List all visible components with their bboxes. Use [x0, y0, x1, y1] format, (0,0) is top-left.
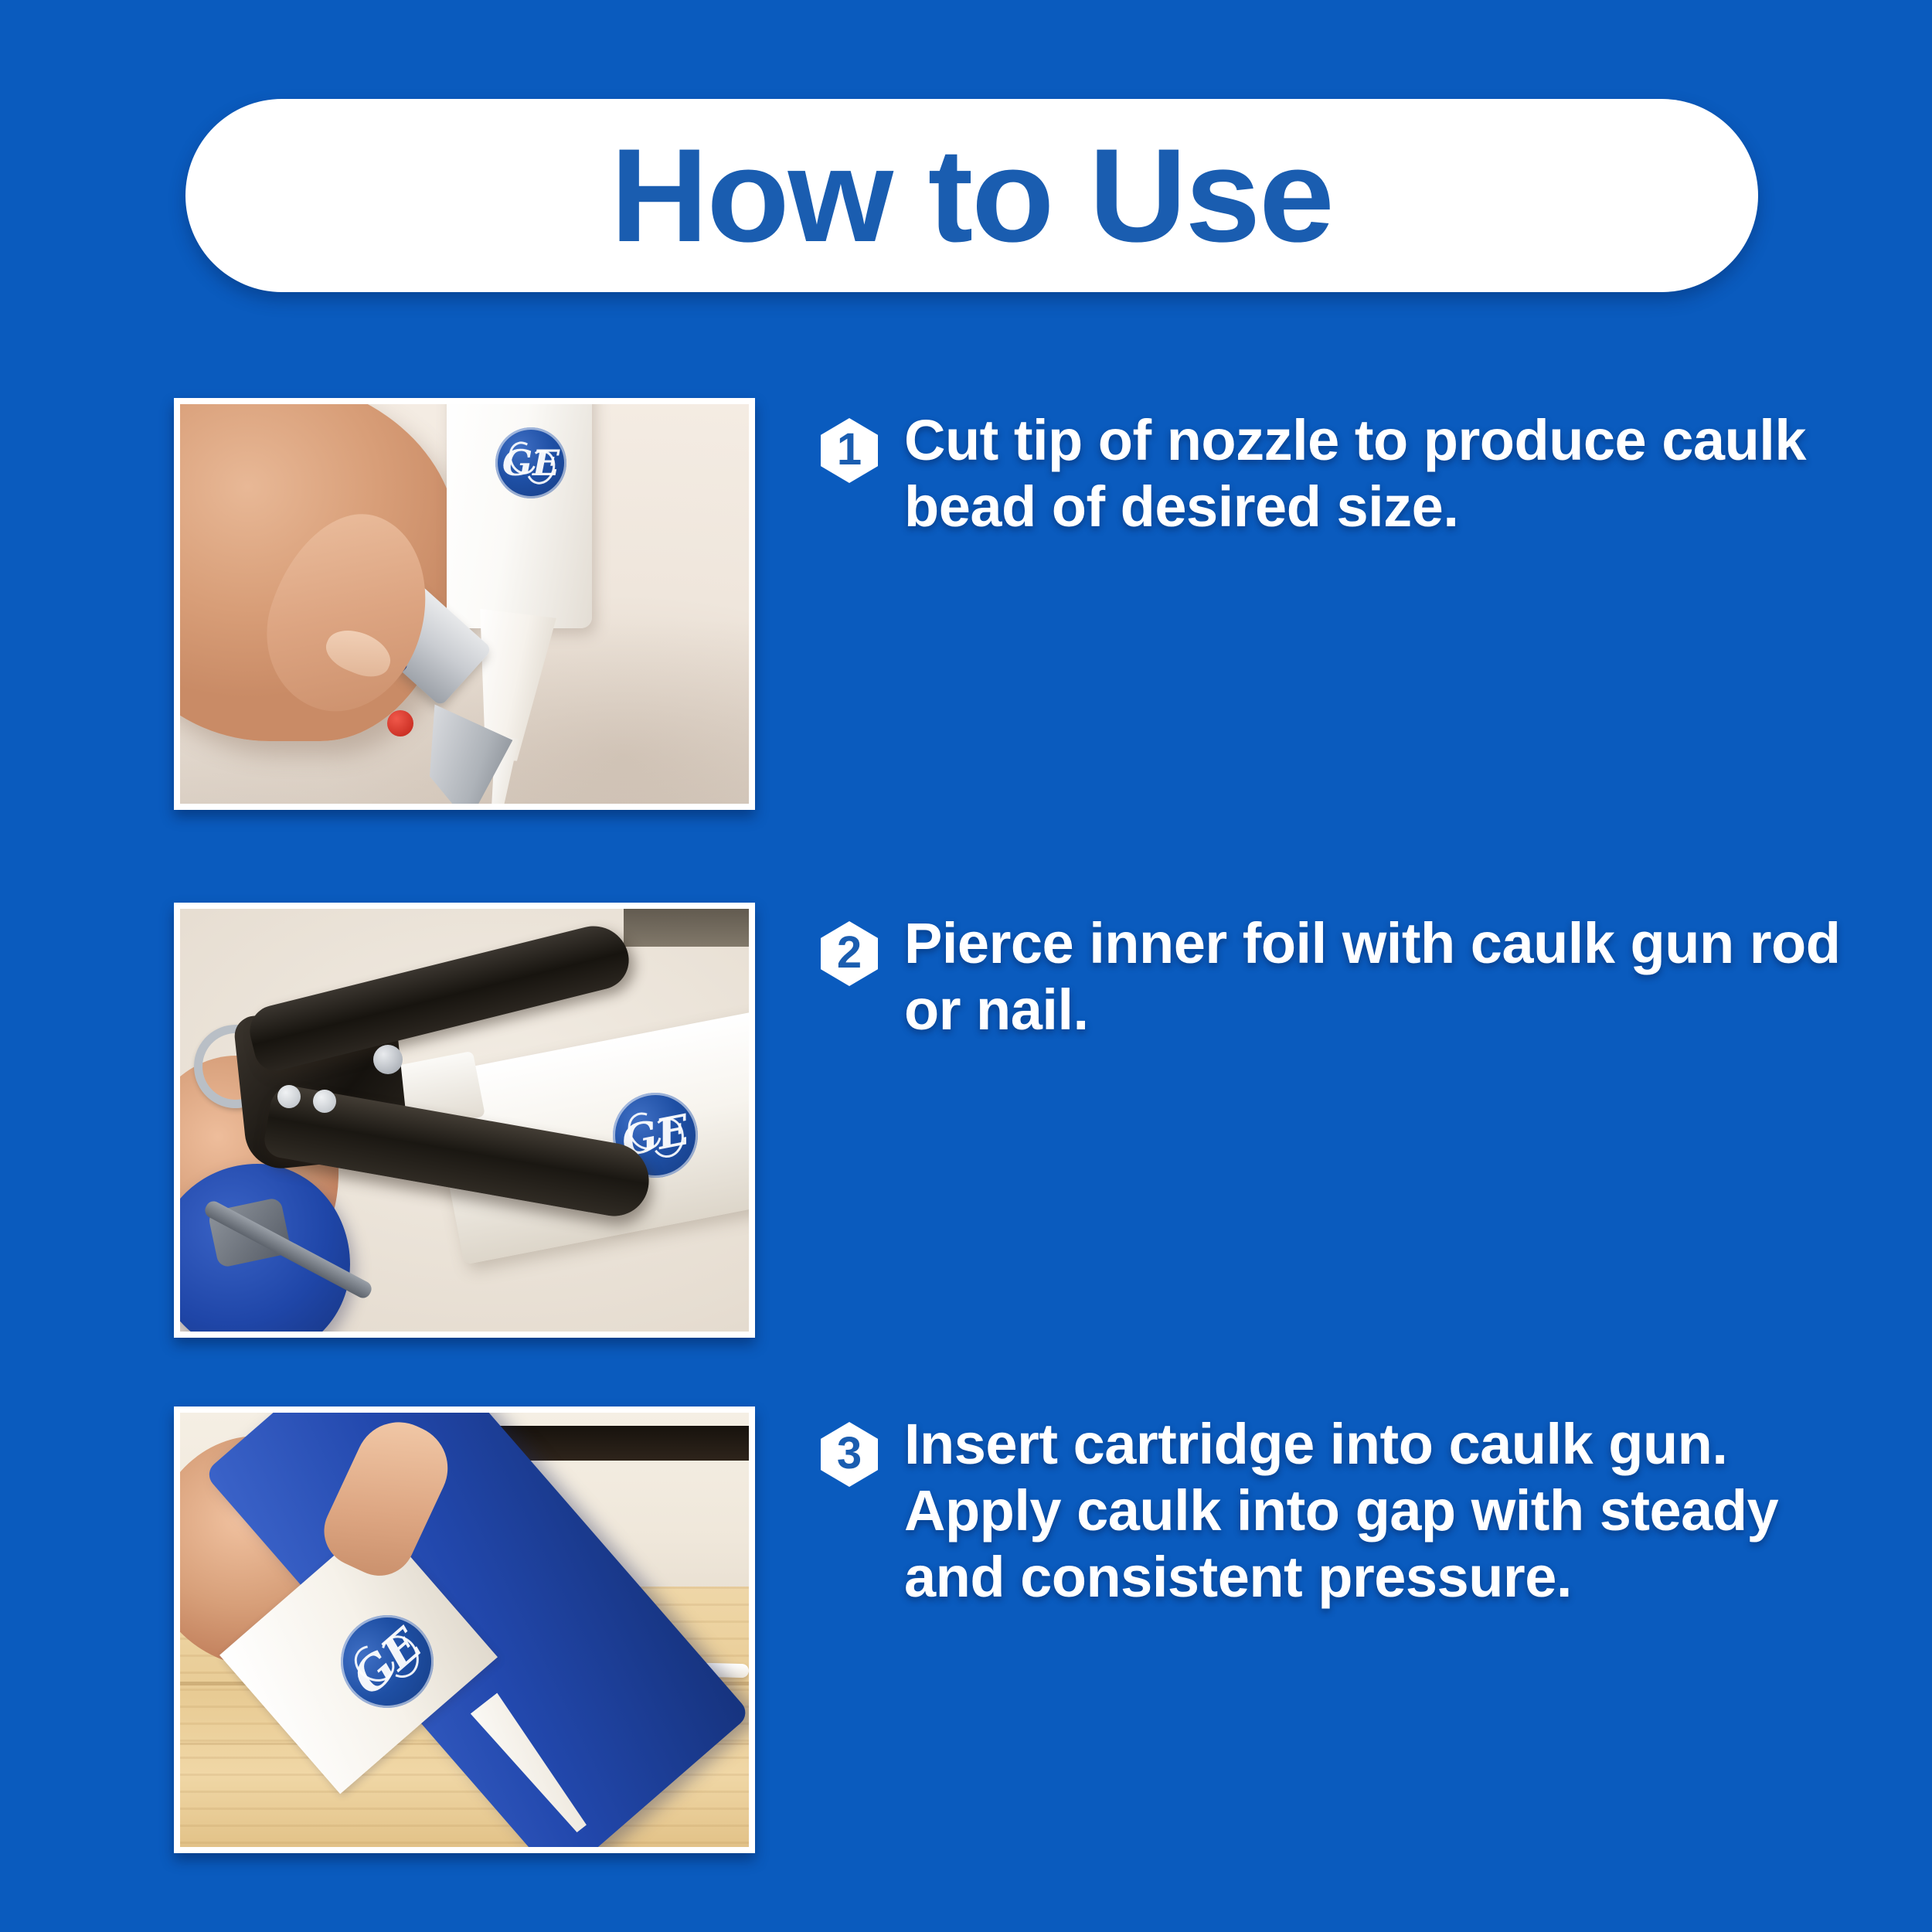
step-row: GE 2	[0, 903, 1932, 1339]
step-caption: Cut tip of nozzle to produce caulk bead …	[904, 407, 1887, 540]
step-number: 1	[821, 418, 878, 483]
step-text-3: 3 Insert cartridge into caulk gun. Apply…	[821, 1411, 1887, 1610]
step-photo-3: GE	[174, 1406, 755, 1853]
step-number: 2	[821, 921, 878, 986]
photo-image-1: GE	[180, 404, 749, 804]
steps-list: GE 1 Cut tip of nozzle to produce caulk …	[0, 0, 1932, 1932]
knife-button-shape	[387, 710, 413, 736]
photo-image-3: GE	[180, 1413, 749, 1847]
step-row: GE 3 Insert cartridge into caulk gun. Ap…	[0, 1406, 1932, 1855]
step-number-badge-3: 3	[821, 1422, 878, 1487]
ge-logo-monogram: GE	[495, 427, 566, 498]
step-text-2: 2 Pierce inner foil with caulk gun rod o…	[821, 910, 1887, 1043]
step-photo-1: GE	[174, 398, 755, 810]
step-number-badge-1: 1	[821, 418, 878, 483]
step-caption: Insert cartridge into caulk gun. Apply c…	[904, 1411, 1887, 1610]
gun-pivot-shape	[373, 1045, 403, 1074]
gun-hole-shape	[313, 1090, 336, 1113]
photo-image-2: GE	[180, 909, 749, 1332]
step-caption: Pierce inner foil with caulk gun rod or …	[904, 910, 1887, 1043]
how-to-use-infographic: How to Use	[0, 0, 1932, 1932]
step-number-badge-2: 2	[821, 921, 878, 986]
step-number: 3	[821, 1422, 878, 1487]
background-shadow	[624, 909, 749, 947]
step-row: GE 1 Cut tip of nozzle to produce caulk …	[0, 398, 1932, 811]
gun-hole-shape	[277, 1085, 301, 1108]
step-text-1: 1 Cut tip of nozzle to produce caulk bea…	[821, 407, 1887, 540]
step-photo-2: GE	[174, 903, 755, 1338]
ge-logo-icon: GE	[495, 427, 566, 498]
